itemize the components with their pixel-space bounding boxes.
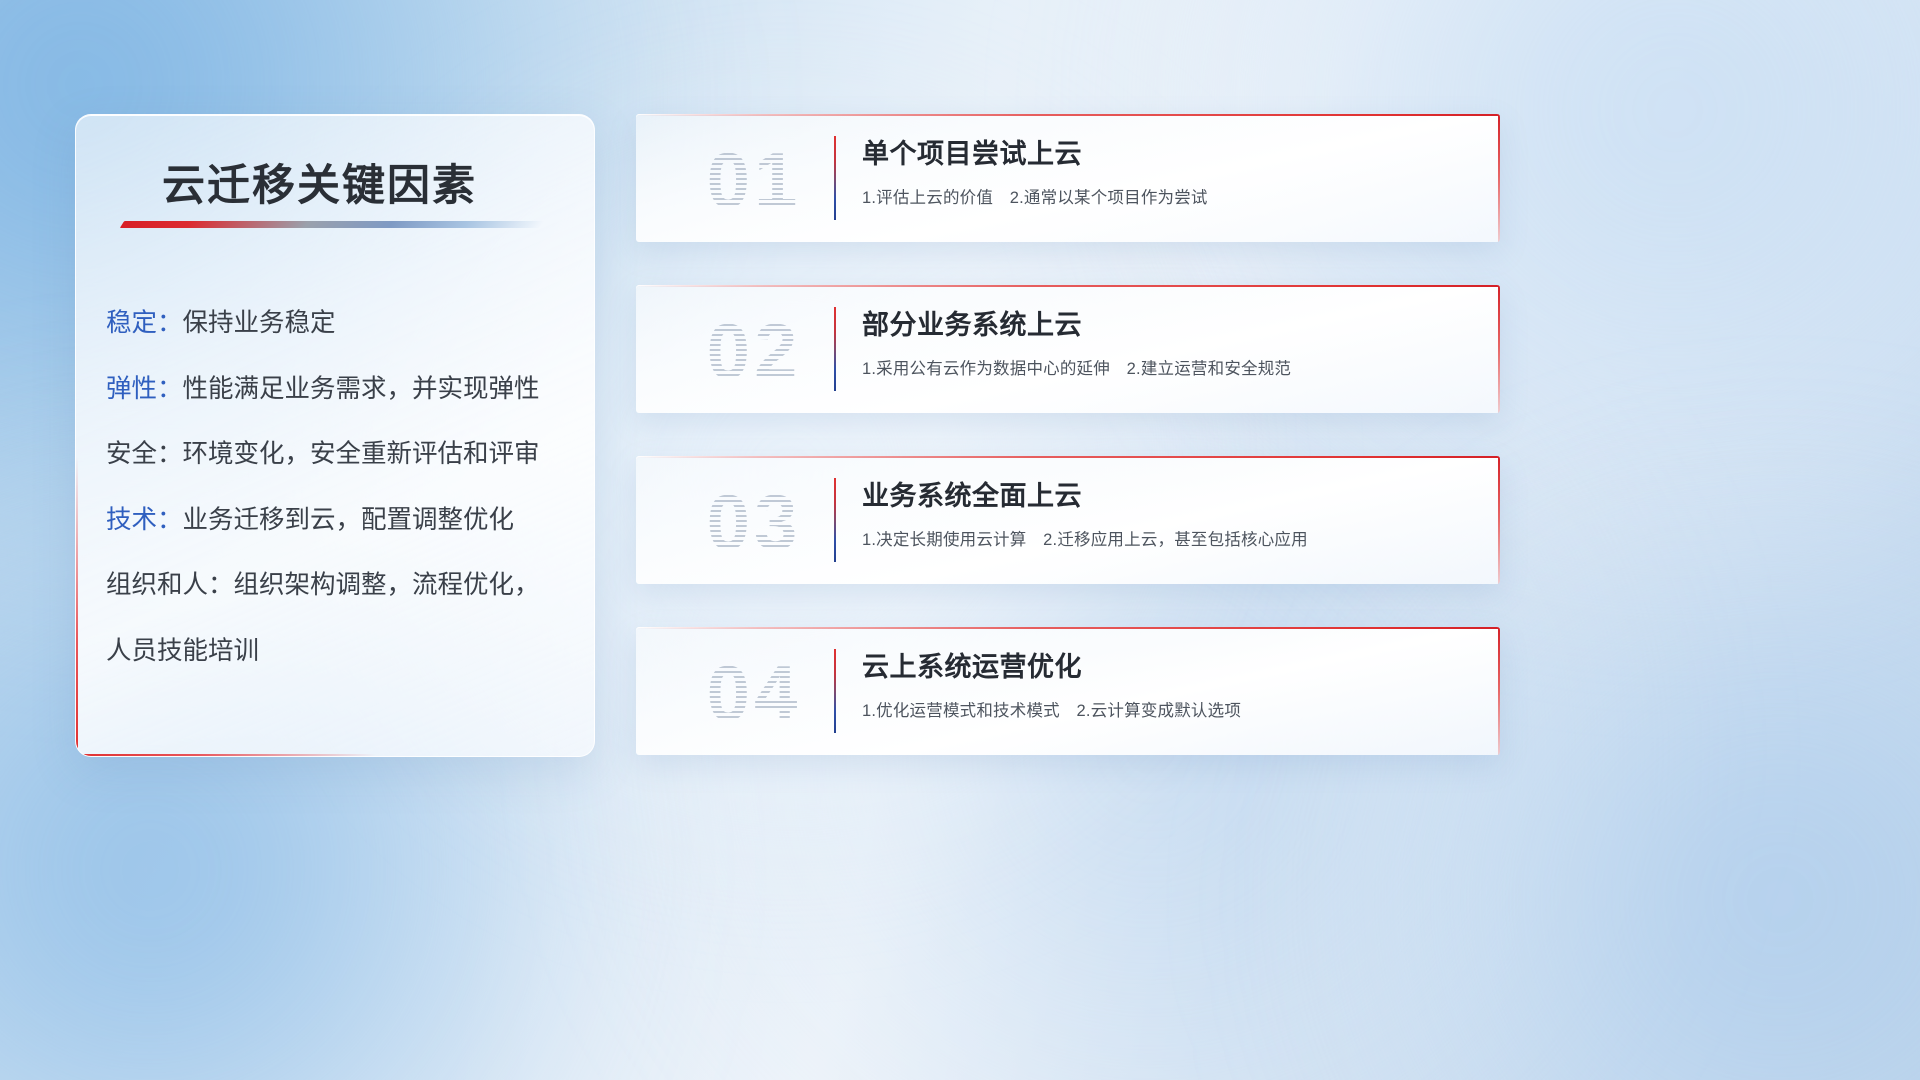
factor-label: 稳定： bbox=[106, 309, 183, 337]
factor-label: 技术： bbox=[106, 506, 183, 534]
card-body: 云上系统运营优化 1.优化运营模式和技术模式 2.云计算变成默认选项 bbox=[862, 645, 1460, 721]
stage-number: 04 bbox=[664, 641, 844, 745]
stage-card-03[interactable]: 03 业务系统全面上云 1.决定长期使用云计算 2.迁移应用上云，甚至包括核心应… bbox=[636, 456, 1500, 584]
card-divider-line bbox=[834, 649, 836, 733]
factor-text: 人员技能培训 bbox=[106, 637, 259, 665]
factor-item-elasticity: 弹性：性能满足业务需求，并实现弹性 bbox=[106, 377, 576, 403]
card-body: 业务系统全面上云 1.决定长期使用云计算 2.迁移应用上云，甚至包括核心应用 bbox=[862, 474, 1460, 550]
card-top-accent-line bbox=[636, 627, 1500, 629]
card-divider-line bbox=[834, 307, 836, 391]
factor-item-technology: 技术：业务迁移到云，配置调整优化 bbox=[106, 508, 576, 534]
stage-number: 02 bbox=[664, 299, 844, 403]
stage-card-01[interactable]: 01 单个项目尝试上云 1.评估上云的价值 2.通常以某个项目作为尝试 bbox=[636, 114, 1500, 242]
card-top-accent-line bbox=[636, 114, 1500, 116]
stage-number: 01 bbox=[664, 128, 844, 232]
stage-title: 云上系统运营优化 bbox=[862, 645, 1460, 684]
factor-label: 安全： bbox=[106, 440, 183, 468]
stage-title: 部分业务系统上云 bbox=[862, 303, 1460, 342]
stage-card-02[interactable]: 02 部分业务系统上云 1.采用公有云作为数据中心的延伸 2.建立运营和安全规范 bbox=[636, 285, 1500, 413]
stage-card-04[interactable]: 04 云上系统运营优化 1.优化运营模式和技术模式 2.云计算变成默认选项 bbox=[636, 627, 1500, 755]
stage-description: 1.优化运营模式和技术模式 2.云计算变成默认选项 bbox=[862, 697, 1460, 721]
factor-text: 环境变化，安全重新评估和评审 bbox=[183, 440, 540, 468]
factor-text: 业务迁移到云，配置调整优化 bbox=[183, 506, 515, 534]
stage-title: 单个项目尝试上云 bbox=[862, 132, 1460, 171]
card-top-accent-line bbox=[636, 456, 1500, 458]
card-divider-line bbox=[834, 136, 836, 220]
factor-item-security: 安全：环境变化，安全重新评估和评审 bbox=[106, 442, 576, 468]
factor-text: 组织架构调整，流程优化， bbox=[234, 571, 540, 599]
stage-title: 业务系统全面上云 bbox=[862, 474, 1460, 513]
factor-label: 组织和人： bbox=[106, 571, 234, 599]
card-right-accent-line bbox=[1498, 114, 1500, 242]
factor-item-organization: 组织和人：组织架构调整，流程优化， bbox=[106, 573, 576, 599]
stage-number: 03 bbox=[664, 470, 844, 574]
factor-text: 性能满足业务需求，并实现弹性 bbox=[183, 375, 540, 403]
card-body: 部分业务系统上云 1.采用公有云作为数据中心的延伸 2.建立运营和安全规范 bbox=[862, 303, 1460, 379]
factor-label: 弹性： bbox=[106, 375, 183, 403]
stage-description: 1.决定长期使用云计算 2.迁移应用上云，甚至包括核心应用 bbox=[862, 526, 1460, 550]
stage-description: 1.采用公有云作为数据中心的延伸 2.建立运营和安全规范 bbox=[862, 355, 1460, 379]
key-factors-panel: 云迁移关键因素 稳定：保持业务稳定 弹性：性能满足业务需求，并实现弹性 安全：环… bbox=[75, 114, 595, 757]
card-divider-line bbox=[834, 478, 836, 562]
stage-description: 1.评估上云的价值 2.通常以某个项目作为尝试 bbox=[862, 184, 1460, 208]
card-top-accent-line bbox=[636, 285, 1500, 287]
factor-text: 保持业务稳定 bbox=[183, 309, 336, 337]
title-underline-accent bbox=[120, 221, 544, 228]
card-right-accent-line bbox=[1498, 627, 1500, 755]
card-right-accent-line bbox=[1498, 456, 1500, 584]
migration-stages-list: 01 单个项目尝试上云 1.评估上云的价值 2.通常以某个项目作为尝试 02 部… bbox=[636, 114, 1500, 755]
card-body: 单个项目尝试上云 1.评估上云的价值 2.通常以某个项目作为尝试 bbox=[862, 132, 1460, 208]
card-right-accent-line bbox=[1498, 285, 1500, 413]
factor-item-organization-continued: 人员技能培训 bbox=[106, 639, 576, 665]
factor-list: 稳定：保持业务稳定 弹性：性能满足业务需求，并实现弹性 安全：环境变化，安全重新… bbox=[106, 311, 576, 664]
factor-item-stability: 稳定：保持业务稳定 bbox=[106, 311, 576, 337]
panel-title: 云迁移关键因素 bbox=[162, 151, 477, 213]
